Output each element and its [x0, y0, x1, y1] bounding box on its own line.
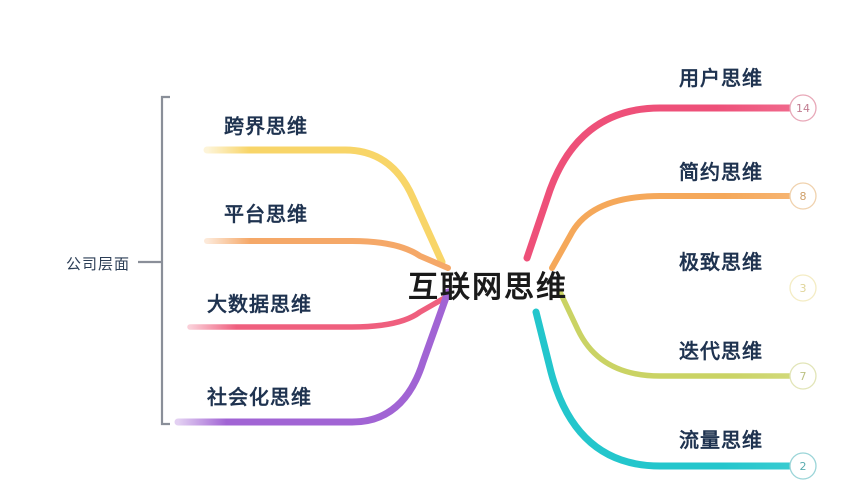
branch-label-jianyue[interactable]: 简约思维 — [679, 156, 763, 185]
branch-label-pingtai[interactable]: 平台思维 — [224, 198, 308, 227]
branch-label-dashuju[interactable]: 大数据思维 — [207, 288, 312, 317]
right-branch-badges: 14 8 3 7 2 — [790, 95, 816, 479]
center-node-title[interactable]: 互联网思维 — [408, 262, 568, 306]
branch-label-yonghu[interactable]: 用户思维 — [679, 62, 763, 91]
badge-jianyue-value: 8 — [800, 190, 807, 203]
branch-label-jizhi[interactable]: 极致思维 — [679, 246, 763, 275]
branch-label-kuajie[interactable]: 跨界思维 — [224, 110, 308, 139]
branch-label-liuliang[interactable]: 流量思维 — [679, 424, 763, 453]
badge-jianyue[interactable]: 8 — [790, 183, 816, 209]
badge-diedai-value: 7 — [800, 370, 807, 383]
branch-label-shehuihua[interactable]: 社会化思维 — [207, 381, 312, 410]
badge-liuliang-value: 2 — [800, 460, 807, 473]
mindmap-canvas: 14 8 3 7 2 互联网思维 公司层面 跨界思维 平台思维 大数据思维 — [0, 0, 867, 500]
left-group-label: 公司层面 — [66, 253, 130, 274]
badge-jizhi[interactable]: 3 — [790, 275, 816, 301]
branch-label-diedai[interactable]: 迭代思维 — [679, 335, 763, 364]
badge-diedai[interactable]: 7 — [790, 363, 816, 389]
badge-yonghu[interactable]: 14 — [790, 95, 816, 121]
badge-yonghu-value: 14 — [796, 102, 810, 115]
left-group-bracket — [138, 97, 170, 424]
badge-jizhi-value: 3 — [800, 282, 807, 295]
badge-liuliang[interactable]: 2 — [790, 453, 816, 479]
